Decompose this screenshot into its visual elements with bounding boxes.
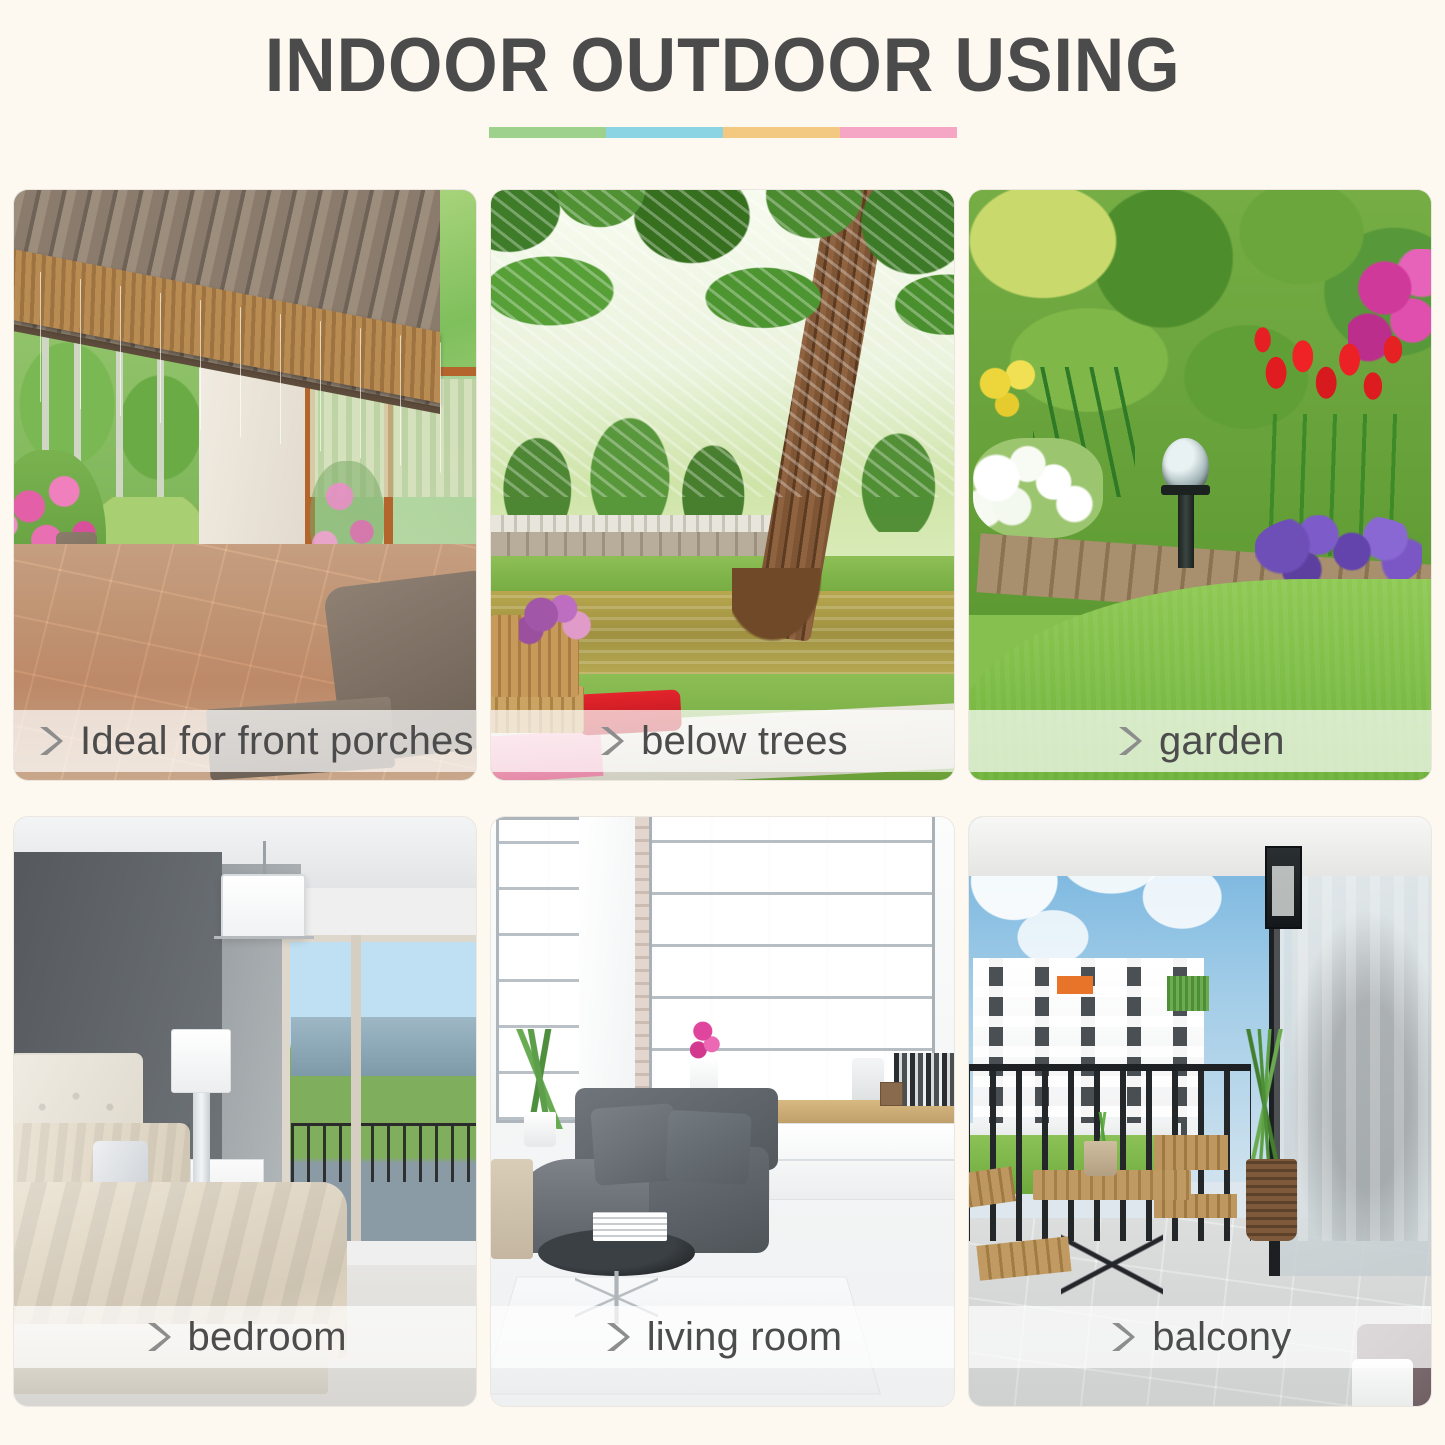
panel-grid: Ideal for front porches <box>14 190 1431 1406</box>
chevron-right-icon <box>1115 724 1145 758</box>
photo-garden <box>969 190 1431 780</box>
caption-balcony: balcony <box>969 1306 1431 1368</box>
caption-bedroom: bedroom <box>14 1306 476 1368</box>
caption-label: Ideal for front porches <box>80 719 474 764</box>
accent-segment-pink <box>840 127 957 138</box>
photo-below-trees <box>491 190 953 780</box>
accent-segment-orange <box>723 127 840 138</box>
chevron-right-icon <box>144 1320 174 1354</box>
caption-garden: garden <box>969 710 1431 772</box>
caption-living-room: living room <box>491 1306 953 1368</box>
caption-label: balcony <box>1152 1315 1291 1360</box>
chevron-right-icon <box>603 1320 633 1354</box>
caption-below-trees: below trees <box>491 710 953 772</box>
panel-below-trees[interactable]: below trees <box>491 190 953 780</box>
chevron-right-icon <box>597 724 627 758</box>
panel-living-room[interactable]: living room <box>491 817 953 1406</box>
panel-bedroom[interactable]: bedroom <box>14 817 476 1406</box>
panel-front-porches[interactable]: Ideal for front porches <box>14 190 476 780</box>
panel-balcony[interactable]: balcony <box>969 817 1431 1406</box>
panel-garden[interactable]: garden <box>969 190 1431 780</box>
caption-label: below trees <box>641 719 848 764</box>
caption-front-porches: Ideal for front porches <box>14 710 476 772</box>
accent-bar <box>489 127 957 138</box>
accent-segment-blue <box>606 127 723 138</box>
header: INDOOR OUTDOOR USING <box>0 0 1445 178</box>
caption-label: garden <box>1159 719 1285 764</box>
chevron-right-icon <box>1108 1320 1138 1354</box>
page-title: INDOOR OUTDOOR USING <box>265 22 1181 109</box>
accent-segment-green <box>489 127 606 138</box>
photo-front-porches <box>14 190 476 780</box>
caption-label: living room <box>647 1315 843 1360</box>
chevron-right-icon <box>36 724 66 758</box>
caption-label: bedroom <box>188 1315 347 1360</box>
promo-graphic: INDOOR OUTDOOR USING <box>0 0 1445 1445</box>
